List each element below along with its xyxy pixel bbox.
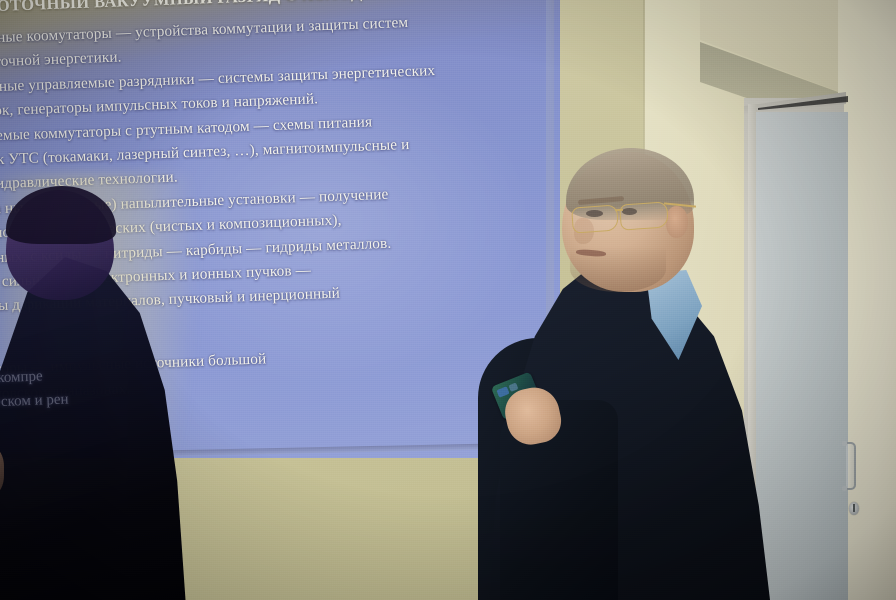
silhouette-hair: [6, 186, 116, 244]
glasses-lens-left: [571, 204, 619, 233]
foreground-audience-silhouette: и покр добных, с ки сильно торы д ев пл …: [0, 190, 220, 600]
remote-button-primary[interactable]: [496, 386, 509, 398]
glasses-lens-right: [619, 201, 669, 230]
speaker-jaw-shading: [570, 246, 666, 292]
glasses-temple-arm: [664, 202, 696, 207]
silhouette-body: и покр добных, с ки сильно торы д ев пл …: [0, 250, 198, 600]
door-lock-icon[interactable]: [849, 502, 859, 515]
lecture-photo-scene: ИЛЬНОТОЧНЫЙ ВАКУУМНЫЙ РАЗРЯД С ХОЛОДНЫМ …: [0, 0, 896, 600]
speaker-figure: [470, 150, 790, 600]
speaker-glasses: [570, 202, 694, 232]
door-handle[interactable]: [846, 442, 856, 490]
